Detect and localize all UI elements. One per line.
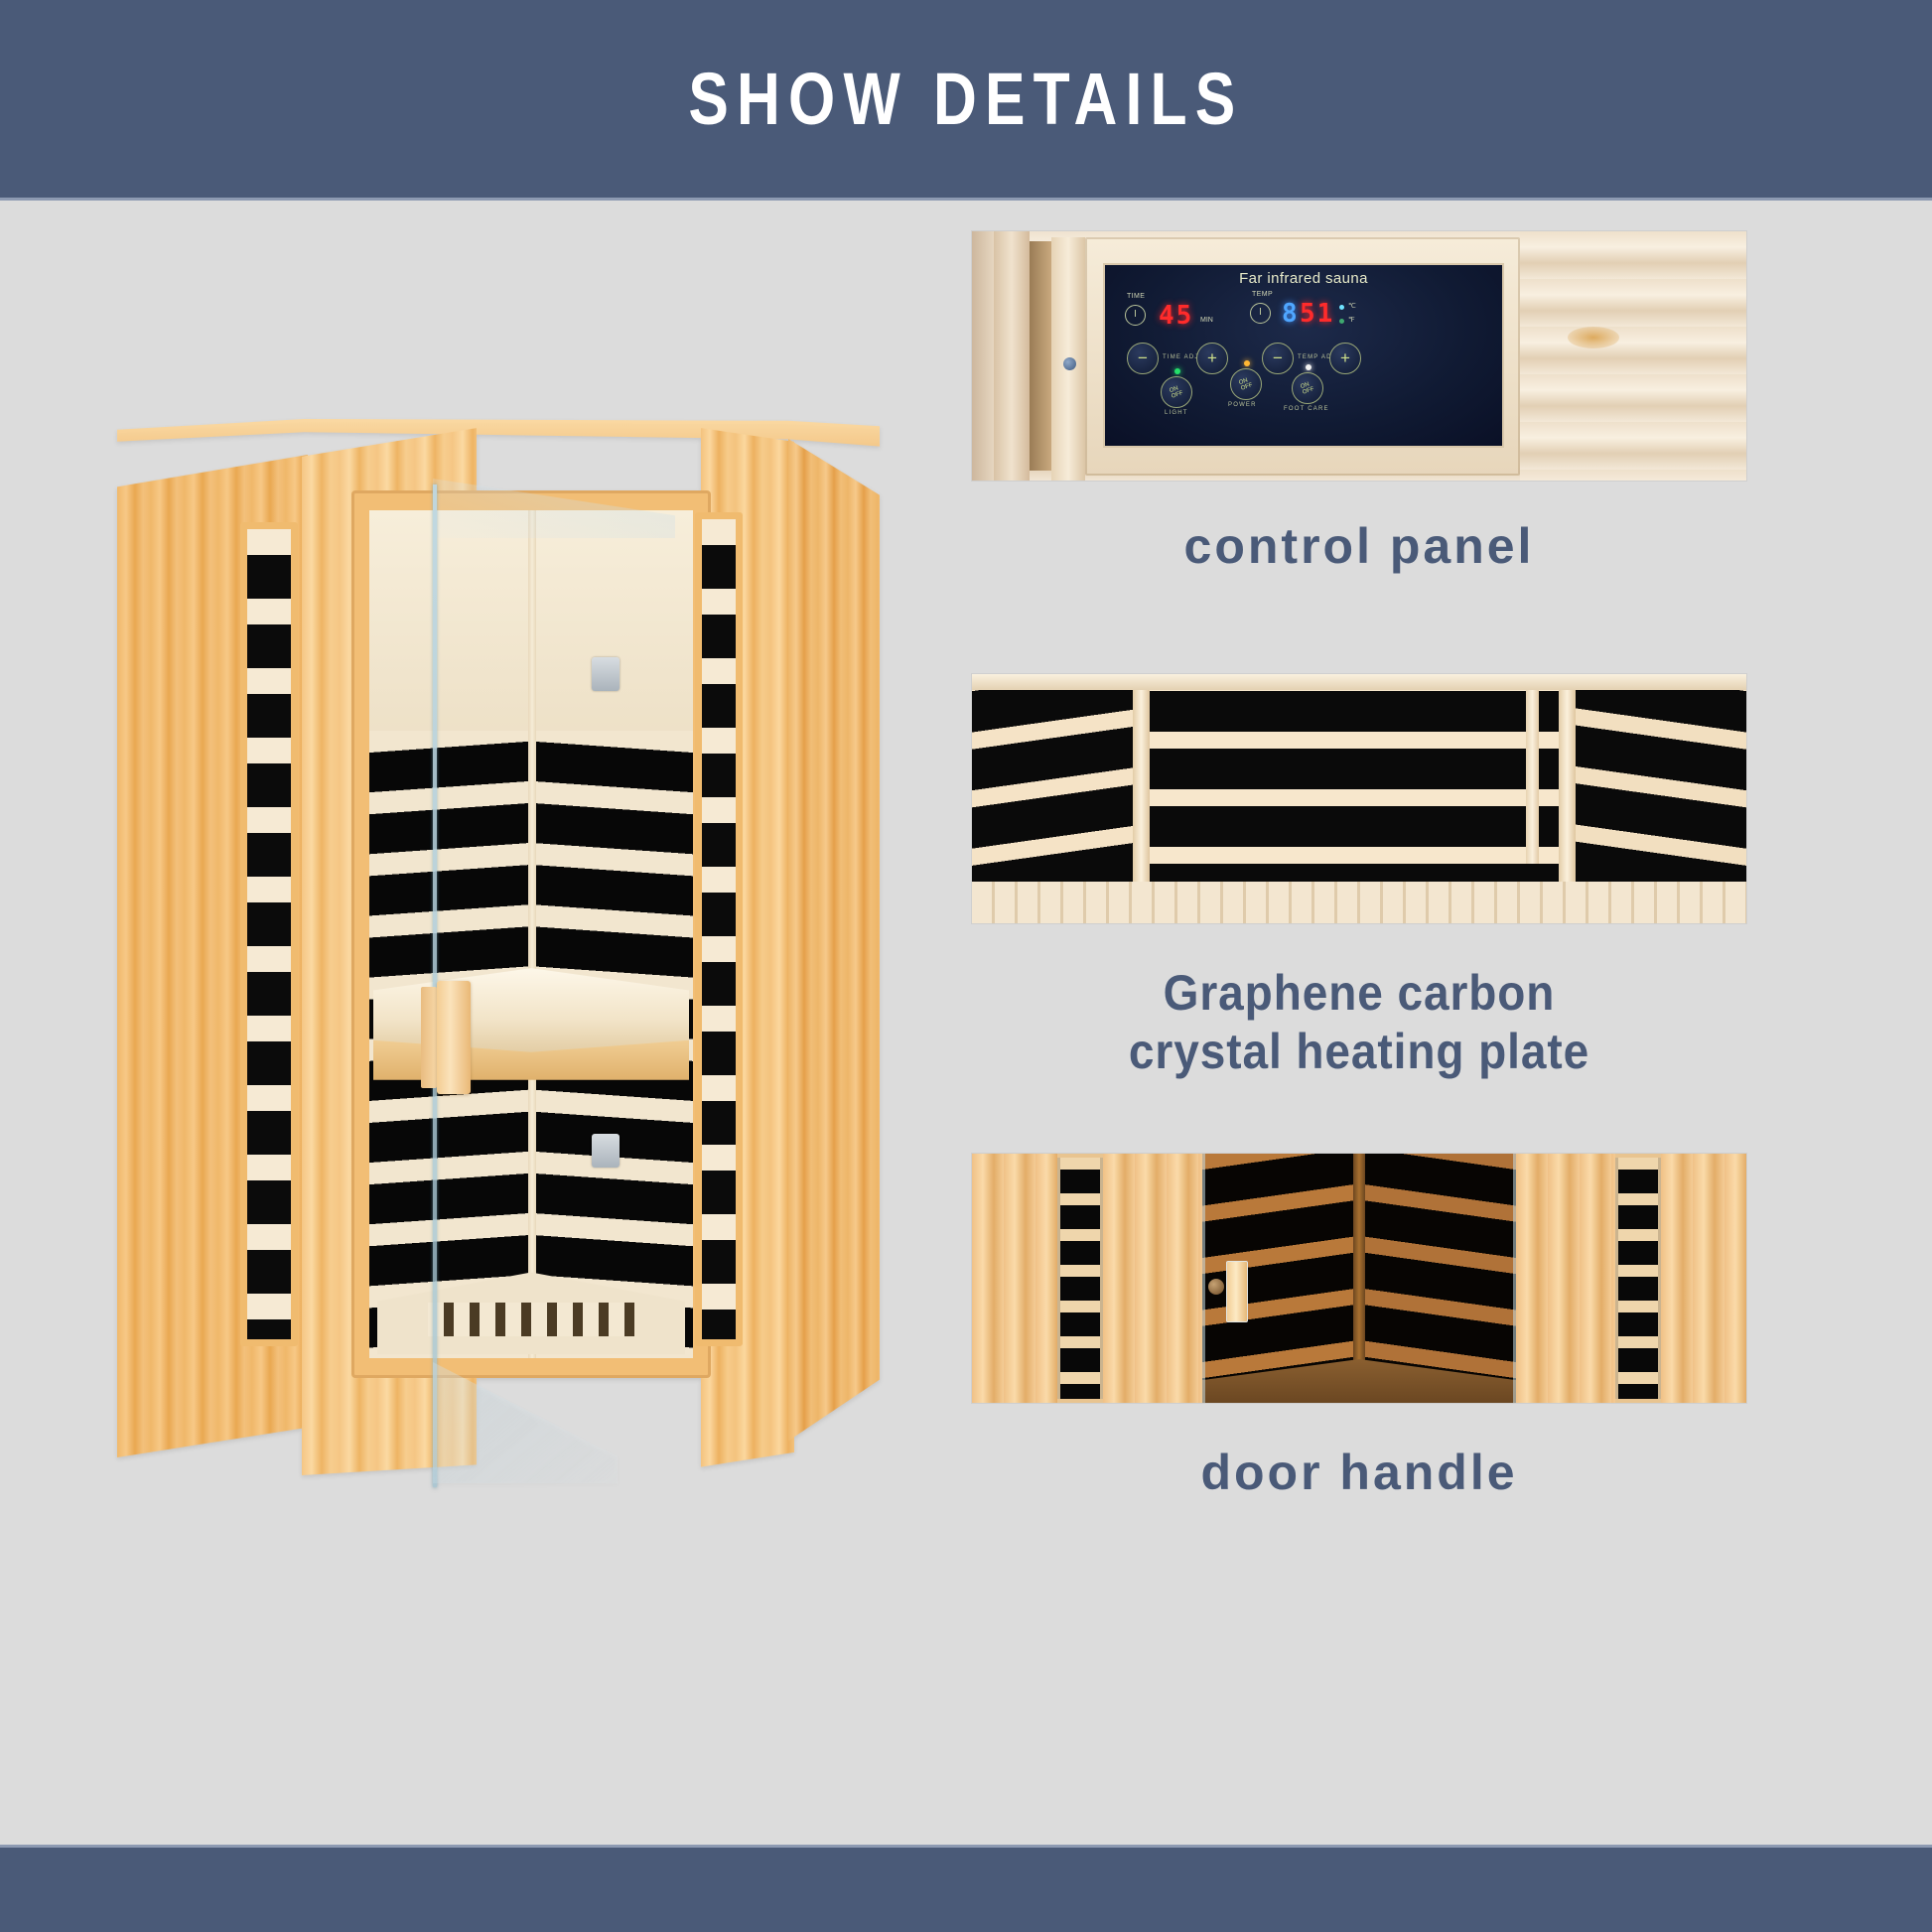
caption-heating-plate-line1: Graphene carbon	[1002, 964, 1716, 1023]
thermometer-icon	[1250, 303, 1271, 324]
time-unit: MIN	[1200, 317, 1213, 324]
panel-screw	[1063, 357, 1076, 370]
panel-post-outer	[994, 231, 1030, 481]
sauna-floor-boards	[972, 882, 1746, 923]
temp-minus-button[interactable]: −	[1262, 343, 1294, 374]
header-band: SHOW DETAILS	[0, 0, 1932, 201]
caption-control-panel: control panel	[971, 517, 1747, 576]
foot-care-label: FOOT CARE	[1284, 406, 1329, 412]
unit-celsius: ℃	[1348, 302, 1356, 310]
floor-duckboard	[428, 1303, 635, 1336]
panel-gap-shadow	[1030, 241, 1051, 471]
celsius-led	[1339, 305, 1344, 310]
detail-card-heating-plate: Graphene carbon crystal heating plate	[971, 673, 1747, 1081]
content-area: Far infrared sauna TIME 45 MIN TEMP 8 51…	[0, 201, 1932, 1845]
power-led	[1244, 360, 1250, 366]
temp-display: 51	[1300, 301, 1334, 327]
temp-label: TEMP	[1252, 291, 1273, 298]
temp-display-lead: 8	[1282, 301, 1300, 327]
sauna-right-wing-wall	[788, 439, 880, 1461]
door-handle-interior	[1202, 1154, 1516, 1403]
time-display: 45	[1159, 303, 1193, 329]
panel-door-jamb	[972, 231, 994, 481]
time-plus-button[interactable]: +	[1196, 343, 1228, 374]
glass-door-bottom-reflection	[433, 1362, 618, 1483]
light-label: LIGHT	[1165, 410, 1188, 416]
interior-corner-post	[528, 510, 536, 1358]
unit-fahrenheit: ℉	[1348, 316, 1355, 324]
exterior-wall-far-left	[972, 1154, 1057, 1403]
side-window-left-panels	[247, 529, 291, 1339]
time-label: TIME	[1127, 293, 1145, 300]
detail-card-control-panel: Far infrared sauna TIME 45 MIN TEMP 8 51…	[971, 230, 1747, 576]
door-hinge-bottom	[592, 1134, 620, 1168]
clock-icon	[1125, 305, 1146, 326]
caption-heating-plate: Graphene carbon crystal heating plate	[1002, 964, 1716, 1081]
power-onoff-text: ONOFF	[1238, 376, 1254, 392]
light-onoff-button[interactable]: ONOFF	[1161, 376, 1192, 408]
sauna-cabinet	[117, 419, 872, 1511]
caption-heating-plate-line2: crystal heating plate	[1002, 1023, 1716, 1081]
thumbnail-heating-plate	[971, 673, 1747, 924]
page-title: SHOW DETAILS	[688, 57, 1243, 141]
temp-plus-button[interactable]: +	[1329, 343, 1361, 374]
caption-door-handle: door handle	[971, 1444, 1747, 1502]
door-handle-detail	[1226, 1261, 1248, 1322]
control-panel-title: Far infrared sauna	[1105, 270, 1502, 287]
exterior-wall-right	[1516, 1154, 1615, 1403]
side-window-right	[695, 512, 743, 1346]
glass-edge-left	[1202, 1154, 1205, 1403]
door-handle-scene	[972, 1154, 1746, 1403]
door-handle-back	[421, 987, 437, 1088]
interior-right-wall	[531, 510, 693, 1358]
door-handle-knob	[1208, 1279, 1224, 1295]
side-window-left-thumb	[1057, 1158, 1103, 1399]
door-handle	[437, 981, 471, 1094]
detail-card-door-handle: door handle	[971, 1153, 1747, 1502]
footer-band	[0, 1845, 1932, 1932]
hero-sauna-image	[117, 419, 872, 1511]
sauna-door-glass-opening	[369, 510, 693, 1358]
foot-care-led	[1306, 364, 1311, 370]
power-label: POWER	[1228, 402, 1257, 408]
door-hinge-top	[592, 657, 620, 691]
thumbnail-door-handle	[971, 1153, 1747, 1404]
exterior-wall-left	[1103, 1154, 1202, 1403]
heating-plate-scene	[972, 674, 1746, 923]
power-onoff-button[interactable]: ONOFF	[1230, 368, 1262, 400]
side-window-right-thumb	[1615, 1158, 1661, 1399]
side-window-left	[240, 522, 298, 1346]
light-onoff-text: ONOFF	[1169, 384, 1184, 400]
foot-care-onoff-button[interactable]: ONOFF	[1292, 372, 1323, 404]
fahrenheit-led	[1339, 319, 1344, 324]
exterior-wall-far-right	[1661, 1154, 1746, 1403]
heating-vertical-stud	[1526, 674, 1539, 864]
panel-right-wall	[1520, 231, 1746, 481]
side-window-right-panels	[702, 519, 736, 1339]
control-panel-screen: Far infrared sauna TIME 45 MIN TEMP 8 51…	[1103, 263, 1504, 448]
interior-left-wall	[369, 510, 531, 1358]
wood-knot	[1568, 327, 1619, 348]
thumbnail-control-panel: Far infrared sauna TIME 45 MIN TEMP 8 51…	[971, 230, 1747, 482]
sauna-door-frame	[351, 490, 711, 1378]
control-panel-frame: Far infrared sauna TIME 45 MIN TEMP 8 51…	[1085, 237, 1520, 476]
light-led	[1174, 368, 1180, 374]
time-minus-button[interactable]: −	[1127, 343, 1159, 374]
foot-care-onoff-text: ONOFF	[1300, 380, 1315, 396]
top-beam	[972, 674, 1746, 690]
detail-thumbnail-rail: Far infrared sauna TIME 45 MIN TEMP 8 51…	[971, 230, 1747, 1502]
